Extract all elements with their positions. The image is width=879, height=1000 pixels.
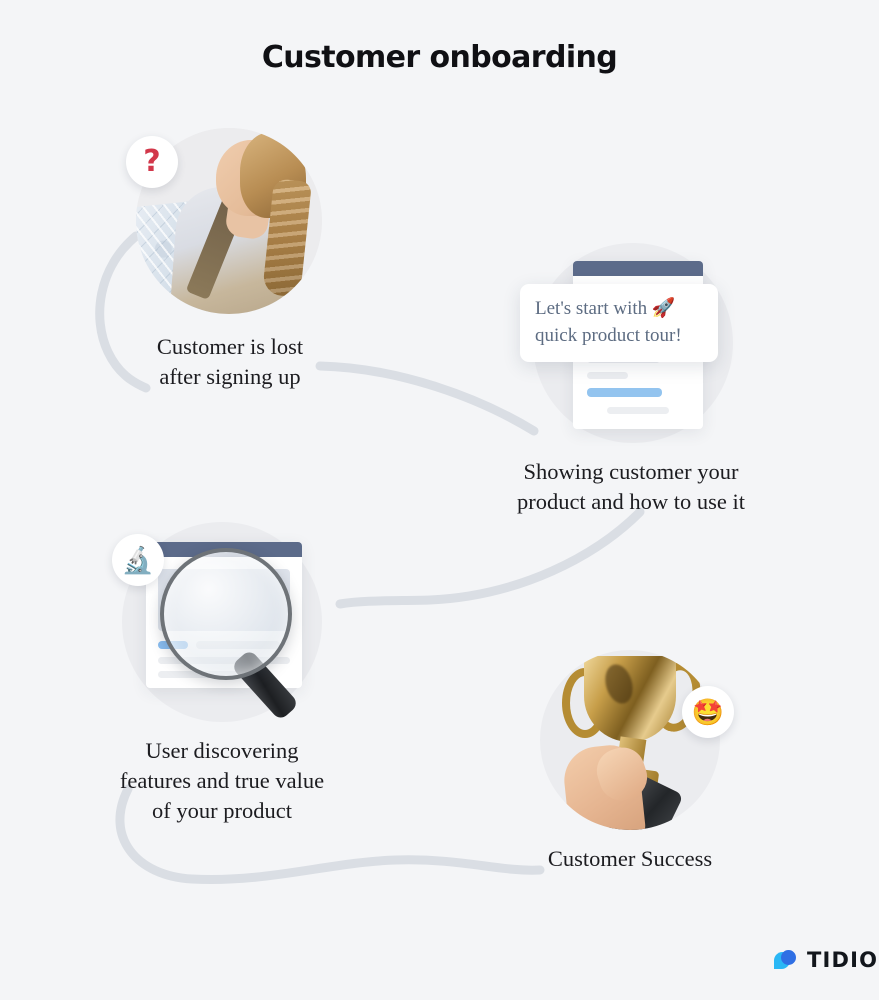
magnifier-browser: 🔬 bbox=[122, 522, 322, 722]
step-3-caption: User discovering features and true value… bbox=[72, 736, 372, 826]
skeleton-line bbox=[607, 407, 668, 414]
product-tour-tooltip: Let's start with 🚀 quick product tour! bbox=[520, 284, 718, 362]
step-3: 🔬 User discovering features and true val… bbox=[122, 522, 372, 826]
question-mark-icon: ? bbox=[126, 136, 178, 188]
step-2: Let's start with 🚀 quick product tour! S… bbox=[533, 243, 791, 517]
trophy-photo: 🤩 bbox=[540, 650, 720, 830]
page-title: Customer onboarding bbox=[0, 40, 879, 75]
question-mark-glyph: ? bbox=[143, 147, 160, 177]
infographic-canvas: Customer onboarding ? bbox=[0, 0, 879, 1000]
skeleton-line bbox=[587, 372, 628, 379]
step-1: ? Customer is lost after signing up bbox=[136, 128, 360, 392]
tidio-chat-bubble-logo bbox=[772, 947, 798, 973]
star-struck-icon: 🤩 bbox=[682, 686, 734, 738]
microscope-glyph: 🔬 bbox=[122, 547, 154, 573]
connector-step2-to-step3 bbox=[340, 512, 640, 604]
microscope-icon: 🔬 bbox=[112, 534, 164, 586]
star-struck-glyph: 🤩 bbox=[692, 699, 724, 725]
lost-customer-photo: ? bbox=[136, 128, 322, 314]
product-tour-card: Let's start with 🚀 quick product tour! bbox=[533, 243, 733, 443]
tidio-wordmark: TIDIO bbox=[807, 948, 878, 972]
magnifier-lens bbox=[160, 548, 292, 680]
trophy-photo-clip bbox=[540, 650, 720, 830]
step-1-caption: Customer is lost after signing up bbox=[100, 332, 360, 392]
step-4: 🤩 Customer Success bbox=[540, 650, 750, 874]
tidio-logo: TIDIO bbox=[772, 947, 878, 973]
step-4-caption: Customer Success bbox=[510, 844, 750, 874]
skeleton-line-accent bbox=[587, 388, 662, 397]
step-2-caption: Showing customer your product and how to… bbox=[471, 457, 791, 517]
app-window-titlebar bbox=[573, 261, 703, 276]
